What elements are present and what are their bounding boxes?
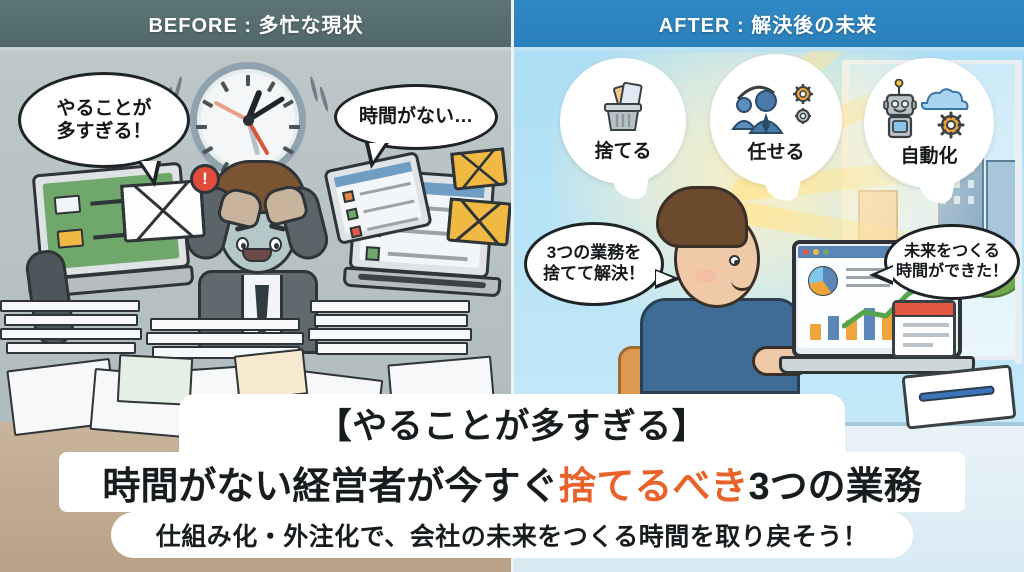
bubble-line: 時間ができた！: [896, 262, 1008, 282]
title-line-2-highlight: 捨てるべき: [558, 455, 748, 510]
title-line-1-text: 【やることが多すぎる】: [317, 398, 708, 449]
clock-motion-line: [318, 86, 329, 112]
before-header: BEFORE : 多忙な現状: [0, 0, 512, 47]
title-line-1: 【やることが多すぎる】: [179, 394, 845, 452]
before-header-label: BEFORE : 多忙な現状: [148, 9, 363, 38]
desk-calendar: [892, 300, 956, 358]
bubble-line: 未来をつくる: [904, 242, 1000, 262]
title-line-3: 仕組み化・外注化で、会社の未来をつくる時間を取り戻そう！: [111, 512, 913, 558]
bubble-line: 多すぎる！: [56, 120, 151, 143]
bubble-line: 時間がない…: [359, 105, 473, 128]
bubble-no-time: 時間がない…: [334, 84, 498, 150]
title-line-3-text: 仕組み化・外注化で、会社の未来をつくる時間を取り戻そう！: [156, 517, 869, 553]
envelope-mail-icon: [450, 147, 508, 190]
bubble-too-many-tasks: やることが 多すぎる！: [18, 72, 190, 168]
after-header: AFTER : 解決後の未来: [512, 0, 1024, 47]
bubble-line: 捨てて解決！: [543, 264, 645, 285]
title-line-2-post: 3つの業務: [748, 455, 921, 510]
trash-bin-icon: [596, 80, 650, 134]
bubble-solved-by-discarding: 3つの業務を 捨てて解決！: [524, 222, 664, 306]
bubble-delegate-label: 任せる: [747, 137, 804, 164]
bubble-automate-label: 自動化: [900, 141, 957, 168]
after-header-underline: [512, 47, 1024, 51]
people-handoff-icon: [730, 77, 822, 135]
thumbnail-canvas: !: [0, 0, 1024, 572]
bubble-discard-label: 捨てる: [594, 136, 651, 163]
title-line-2-pre: 時間がない経営者が今すぐ: [102, 455, 558, 510]
bubble-discard: 捨てる: [560, 58, 686, 184]
after-header-label: AFTER : 解決後の未来: [659, 9, 877, 38]
bubble-line: 3つの業務を: [547, 243, 641, 264]
bubble-line: やることが: [56, 97, 151, 120]
pie-chart: [808, 266, 838, 296]
alert-badge: !: [190, 164, 220, 194]
title-block: 【やることが多すぎる】 時間がない経営者が今すぐ捨てるべき3つの業務 仕組み化・…: [0, 394, 1024, 572]
envelope-mail-icon: [446, 197, 512, 246]
bubble-delegate: 任せる: [710, 54, 842, 186]
before-header-underline: [0, 47, 512, 51]
clock-motion-line: [309, 76, 319, 102]
bubble-time-for-future: 未来をつくる 時間ができた！: [884, 224, 1020, 300]
robot-icon: [881, 79, 977, 139]
title-line-2: 時間がない経営者が今すぐ捨てるべき3つの業務: [59, 452, 965, 512]
bubble-automate: 自動化: [864, 58, 994, 188]
